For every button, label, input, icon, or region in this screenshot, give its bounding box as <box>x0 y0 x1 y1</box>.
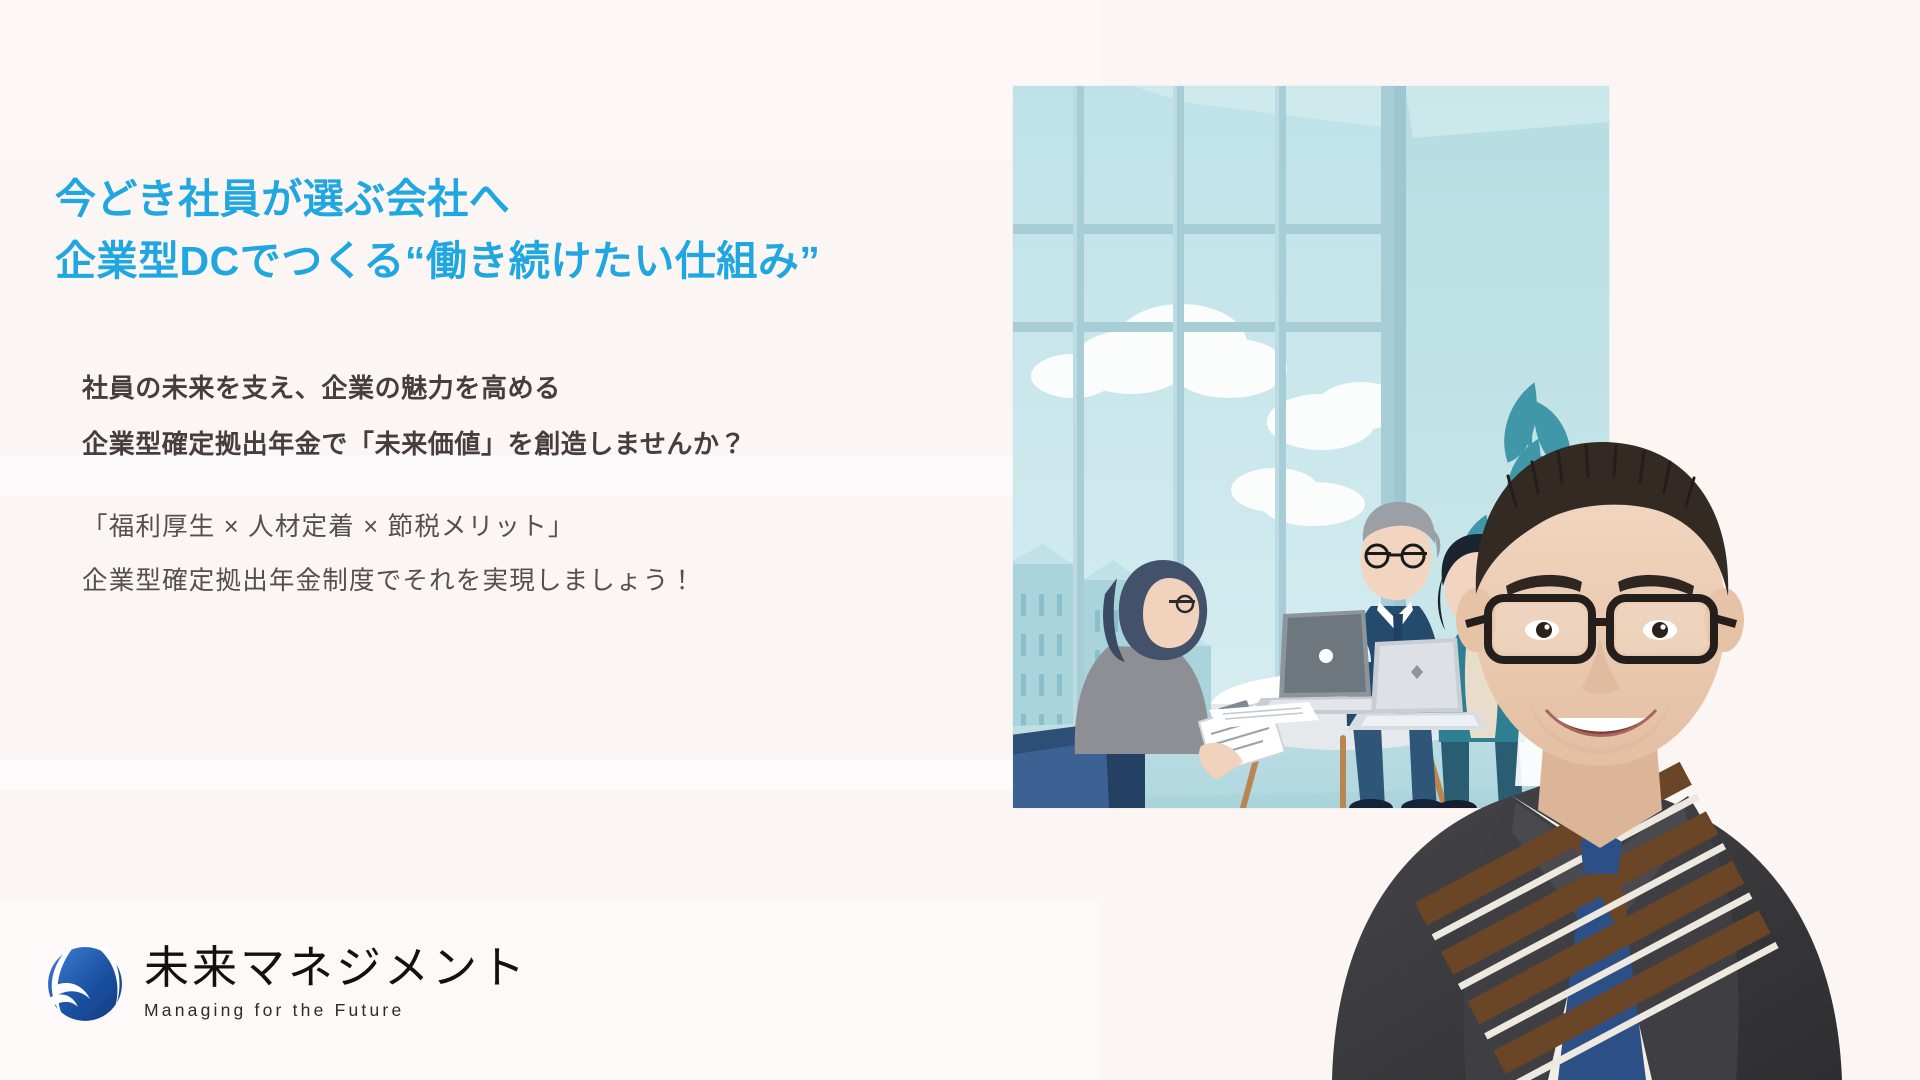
background-band-mid-lower <box>0 760 1100 790</box>
slide-canvas: 今どき社員が選ぶ会社へ 企業型DCでつくる“働き続けたい仕組み” 社員の未来を支… <box>0 0 1920 1080</box>
logo-text-block: 未来マネジメント Managing for the Future <box>144 944 528 1021</box>
lead-copy: 社員の未来を支え、企業の魅力を高める 企業型確定拠出年金で「未来価値」を創造しま… <box>82 360 942 472</box>
body-copy: 「福利厚生 × 人材定着 × 節税メリット」 企業型確定拠出年金制度でそれを実現… <box>82 500 942 608</box>
company-logo: 未来マネジメント Managing for the Future <box>42 935 528 1030</box>
body-line-1: 「福利厚生 × 人材定着 × 節税メリット」 <box>82 500 942 554</box>
office-meeting-illustration <box>1013 86 1609 808</box>
lead-line-2: 企業型確定拠出年金で「未来価値」を創造しませんか？ <box>82 416 942 472</box>
globe-sphere-icon <box>42 935 128 1030</box>
logo-company-name: 未来マネジメント <box>144 944 528 991</box>
headline: 今どき社員が選ぶ会社へ 企業型DCでつくる“働き続けたい仕組み” <box>55 168 955 293</box>
lead-line-1: 社員の未来を支え、企業の魅力を高める <box>82 360 942 416</box>
body-line-2: 企業型確定拠出年金制度でそれを実現しましょう！ <box>82 554 942 608</box>
logo-tagline: Managing for the Future <box>144 1000 528 1021</box>
headline-line-2: 企業型DCでつくる“働き続けたい仕組み” <box>55 230 955 292</box>
headline-line-1: 今どき社員が選ぶ会社へ <box>55 176 510 222</box>
background-band-top <box>0 0 1100 160</box>
